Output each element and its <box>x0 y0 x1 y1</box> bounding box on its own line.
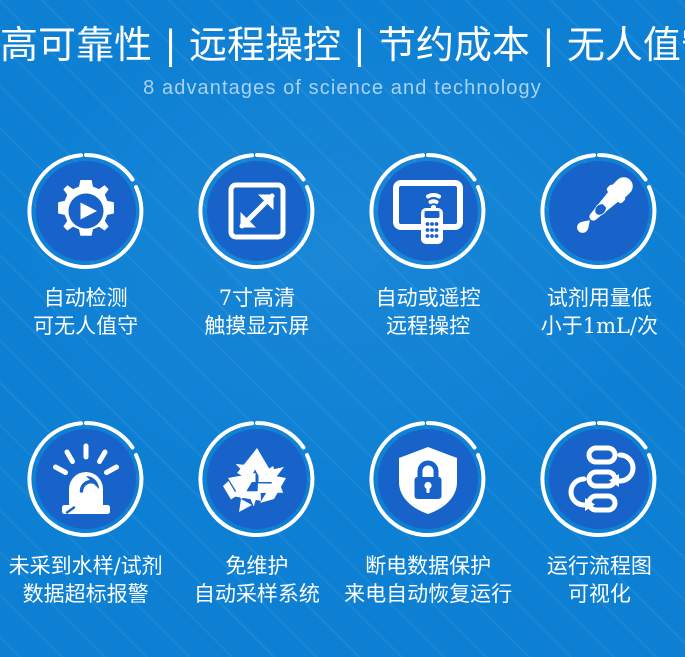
feature-caption-line1: 免维护 <box>194 552 320 580</box>
dropper-pipette-icon <box>540 152 658 270</box>
feature-caption-6: 免维护 自动采样系统 <box>194 552 320 608</box>
feature-item-6: 免维护 自动采样系统 <box>171 410 342 657</box>
feature-icon-badge-7 <box>369 420 487 538</box>
page-subtitle: 8 advantages of science and technology <box>0 67 685 100</box>
shield-lock-icon <box>369 420 487 538</box>
feature-caption-4: 试剂用量低 小于1mL/次 <box>541 284 658 340</box>
feature-grid: 自动检测 可无人值守 7寸高清 触摸显示屏 <box>0 140 685 657</box>
feature-caption-7: 断电数据保护 来电自动恢复运行 <box>344 552 512 608</box>
feature-caption-line2: 远程操控 <box>376 312 481 340</box>
feature-icon-badge-6 <box>198 420 316 538</box>
poster-header: 高可靠性 | 远程操控 | 节约成本 | 无人值守 8 advantages o… <box>0 0 685 120</box>
monitor-remote-wifi-icon <box>369 152 487 270</box>
feature-icon-badge-1 <box>27 152 145 270</box>
feature-caption-line1: 运行流程图 <box>547 552 652 580</box>
page-title: 高可靠性 | 远程操控 | 节约成本 | 无人值守 <box>0 0 685 67</box>
feature-item-8: 运行流程图 可视化 <box>514 410 685 657</box>
feature-caption-8: 运行流程图 可视化 <box>547 552 652 608</box>
feature-item-4: 试剂用量低 小于1mL/次 <box>514 140 685 410</box>
feature-caption-line2: 来电自动恢复运行 <box>344 580 512 608</box>
feature-caption-line2: 可无人值守 <box>33 312 138 340</box>
screen-resize-arrow-icon <box>198 152 316 270</box>
feature-caption-line1: 试剂用量低 <box>541 284 658 312</box>
feature-caption-line1: 自动或遥控 <box>376 284 481 312</box>
poster-canvas: 高可靠性 | 远程操控 | 节约成本 | 无人值守 8 advantages o… <box>0 0 685 657</box>
feature-caption-line2: 可视化 <box>547 580 652 608</box>
recycle-icon <box>198 420 316 538</box>
feature-item-2: 7寸高清 触摸显示屏 <box>171 140 342 410</box>
feature-icon-badge-3 <box>369 152 487 270</box>
feature-caption-5: 未采到水样/试剂 数据超标报警 <box>9 552 163 608</box>
gear-play-icon <box>27 152 145 270</box>
feature-caption-line1: 自动检测 <box>33 284 138 312</box>
feature-caption-2: 7寸高清 触摸显示屏 <box>204 284 309 340</box>
feature-caption-line1: 断电数据保护 <box>344 552 512 580</box>
feature-icon-badge-2 <box>198 152 316 270</box>
feature-caption-1: 自动检测 可无人值守 <box>33 284 138 340</box>
feature-caption-line2: 数据超标报警 <box>9 580 163 608</box>
feature-item-7: 断电数据保护 来电自动恢复运行 <box>343 410 514 657</box>
flowchart-loop-icon <box>540 420 658 538</box>
feature-caption-line2: 触摸显示屏 <box>204 312 309 340</box>
feature-item-5: 未采到水样/试剂 数据超标报警 <box>0 410 171 657</box>
feature-icon-badge-5 <box>27 420 145 538</box>
feature-caption-line1: 7寸高清 <box>204 284 309 312</box>
feature-item-1: 自动检测 可无人值守 <box>0 140 171 410</box>
alarm-siren-icon <box>27 420 145 538</box>
feature-icon-badge-8 <box>540 420 658 538</box>
feature-item-3: 自动或遥控 远程操控 <box>343 140 514 410</box>
feature-caption-line2: 自动采样系统 <box>194 580 320 608</box>
feature-caption-line1: 未采到水样/试剂 <box>9 552 163 580</box>
feature-icon-badge-4 <box>540 152 658 270</box>
feature-caption-3: 自动或遥控 远程操控 <box>376 284 481 340</box>
feature-caption-line2: 小于1mL/次 <box>541 312 658 340</box>
